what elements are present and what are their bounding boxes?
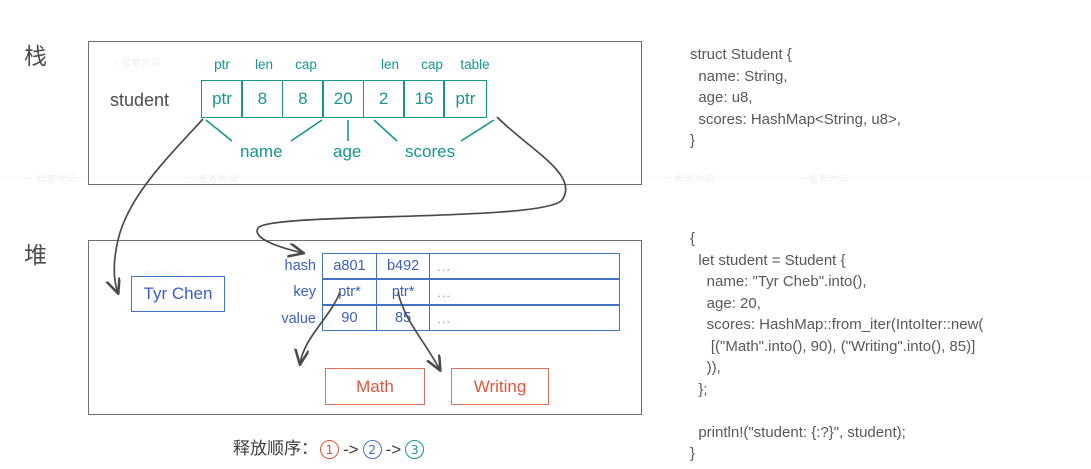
struct-top-label-ptr: ptr	[201, 58, 243, 72]
struct-cell-scores-cap: 16	[403, 80, 445, 118]
struct-cells-row: ptr 8 8 20 2 16 ptr	[201, 80, 497, 118]
struct-cell-scores-table: ptr	[443, 80, 487, 118]
hashmap-row-label-hash: hash	[258, 259, 316, 274]
drop-order-step-3: 3	[405, 440, 424, 459]
heap-string-box: Tyr Chen	[131, 276, 225, 312]
drop-order-label: 释放顺序：	[233, 441, 318, 458]
heap-region-label: 堆	[24, 245, 47, 268]
hashmap-row-hash: a801 b492 ...	[322, 253, 621, 279]
struct-cell-name-cap: 8	[282, 80, 324, 118]
hashmap-cell-key-1: ptr*	[376, 279, 431, 305]
hashmap-cell-key-0: ptr*	[322, 279, 377, 305]
struct-cell-scores-len: 2	[363, 80, 405, 118]
code-struct-definition: struct Student { name: String, age: u8, …	[690, 44, 901, 152]
drop-order-step-2: 2	[363, 440, 382, 459]
struct-top-label-len2: len	[369, 58, 411, 72]
code-main-block: { let student = Student { name: "Tyr Che…	[690, 228, 983, 465]
heap-key-box-writing: Writing	[451, 368, 549, 405]
hashmap-row-value: 90 85 ...	[322, 305, 621, 331]
hashmap-cell-value-1: 85	[376, 305, 431, 331]
drop-order-step-1: 1	[320, 440, 339, 459]
struct-field-label-scores: scores	[405, 143, 455, 160]
struct-top-label-len1: len	[243, 58, 285, 72]
drop-order-separator-2: ->	[386, 441, 402, 458]
hashmap-row-key: ptr* ptr* ...	[322, 279, 621, 305]
hashmap-cell-hash-rest: ...	[429, 253, 620, 279]
watermark: 极客时间	[28, 172, 77, 185]
struct-cell-name-len: 8	[241, 80, 283, 118]
drop-order-separator-1: ->	[343, 441, 359, 458]
stack-variable-label: student	[110, 91, 169, 109]
struct-top-label-cap1: cap	[285, 58, 327, 72]
struct-field-label-name: name	[240, 143, 283, 160]
struct-cell-name-ptr: ptr	[201, 80, 243, 118]
hashmap-cell-value-rest: ...	[429, 305, 620, 331]
struct-top-label-cap2: cap	[411, 58, 453, 72]
watermark: 极客时间	[666, 172, 715, 185]
heap-key-box-math: Math	[325, 368, 425, 405]
struct-cell-age: 20	[322, 80, 364, 118]
hashmap-cell-value-0: 90	[322, 305, 377, 331]
drop-order-caption: 释放顺序： 1 -> 2 -> 3	[233, 440, 426, 459]
hashmap-row-label-key: key	[258, 285, 316, 300]
hashmap-cell-key-rest: ...	[429, 279, 620, 305]
hashmap-row-label-value: value	[258, 312, 316, 327]
watermark: 极客时间	[800, 172, 849, 185]
struct-top-label-table: table	[453, 58, 497, 72]
hashmap-cell-hash-0: a801	[322, 253, 377, 279]
diagram-canvas: 极客时间 极客时间 极客时间 极客时间 极客时间 极客时间 栈 堆 studen…	[0, 0, 1091, 469]
hashmap-cell-hash-1: b492	[376, 253, 431, 279]
stack-region-label: 栈	[24, 46, 47, 69]
struct-field-label-age: age	[333, 143, 361, 160]
